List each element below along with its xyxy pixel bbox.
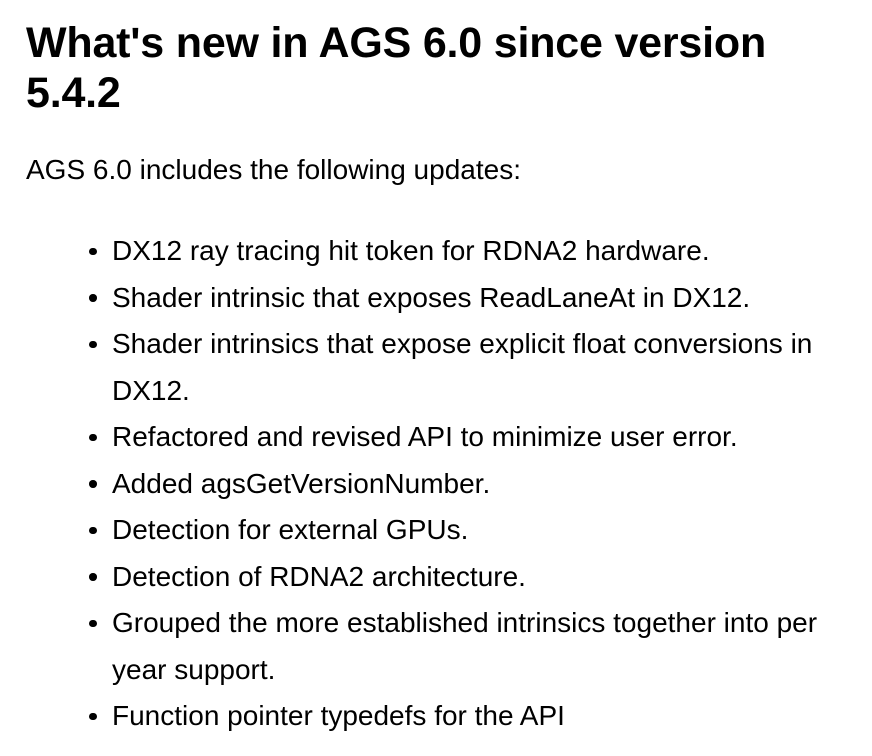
list-item-label: Shader intrinsics that expose explicit f… xyxy=(112,321,864,414)
list-item: Shader intrinsics that expose explicit f… xyxy=(0,321,872,414)
list-item-label: Refactored and revised API to minimize u… xyxy=(112,414,864,461)
list-item-label: Detection for external GPUs. xyxy=(112,507,864,554)
page-title: What's new in AGS 6.0 since version 5.4.… xyxy=(26,18,816,118)
list-item: Added agsGetVersionNumber. xyxy=(0,461,872,508)
list-item: Refactored and revised API to minimize u… xyxy=(0,414,872,461)
bullet-dot-icon xyxy=(89,248,97,256)
updates-list: DX12 ray tracing hit token for RDNA2 har… xyxy=(0,228,872,740)
document-page: What's new in AGS 6.0 since version 5.4.… xyxy=(0,0,872,756)
list-item-label: Grouped the more established intrinsics … xyxy=(112,600,864,693)
list-item-label: Shader intrinsic that exposes ReadLaneAt… xyxy=(112,275,864,322)
bullet-dot-icon xyxy=(89,480,97,488)
bullet-dot-icon xyxy=(89,527,97,535)
bullet-dot-icon xyxy=(89,341,97,349)
bullet-dot-icon xyxy=(89,713,97,721)
list-item: Detection of RDNA2 architecture. xyxy=(0,554,872,601)
list-item-label: Added agsGetVersionNumber. xyxy=(112,461,864,508)
list-item: Shader intrinsic that exposes ReadLaneAt… xyxy=(0,275,872,322)
list-item-label: Function pointer typedefs for the API xyxy=(112,693,864,740)
bullet-dot-icon xyxy=(89,294,97,302)
bullet-dot-icon xyxy=(89,620,97,628)
bullet-dot-icon xyxy=(89,573,97,581)
intro-paragraph: AGS 6.0 includes the following updates: xyxy=(26,152,521,188)
list-item-label: Detection of RDNA2 architecture. xyxy=(112,554,864,601)
list-item: DX12 ray tracing hit token for RDNA2 har… xyxy=(0,228,872,275)
list-item: Detection for external GPUs. xyxy=(0,507,872,554)
list-item: Function pointer typedefs for the API xyxy=(0,693,872,740)
list-item: Grouped the more established intrinsics … xyxy=(0,600,872,693)
list-item-label: DX12 ray tracing hit token for RDNA2 har… xyxy=(112,228,864,275)
bullet-dot-icon xyxy=(89,434,97,442)
